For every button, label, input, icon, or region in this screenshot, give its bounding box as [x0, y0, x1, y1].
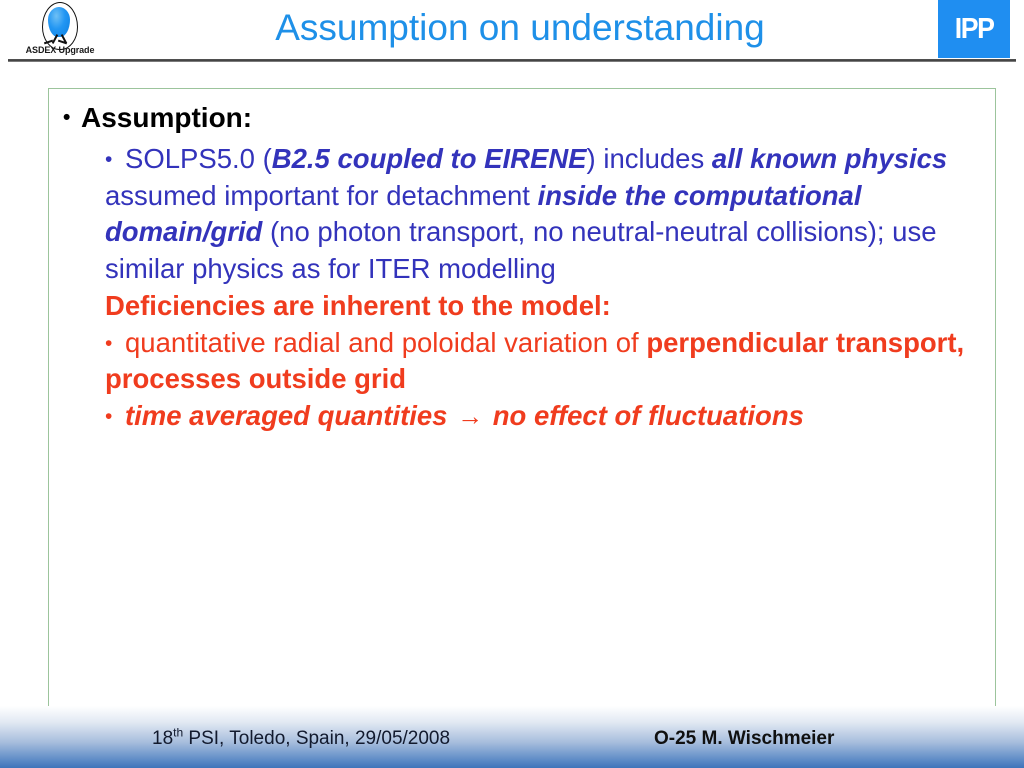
- red2-emphasis-2: no effect of fluctuations: [485, 400, 804, 431]
- paragraph-red-1: • quantitative radial and poloidal varia…: [105, 325, 995, 398]
- bullet-icon: •: [63, 106, 81, 131]
- footer-left-post: PSI, Toledo, Spain, 29/05/2008: [183, 728, 450, 749]
- content-box: •Assumption: • SOLPS5.0 (B2.5 coupled to…: [48, 88, 996, 718]
- paragraph-red-2: • time averaged quantities → no effect o…: [105, 398, 995, 435]
- blue-segment-1: SOLPS5.0 (: [117, 143, 271, 174]
- red1-segment-1: quantitative radial and poloidal variati…: [117, 327, 646, 358]
- assumption-heading: •Assumption:: [63, 101, 252, 134]
- red-heading-text: Deficiencies are inherent to the model:: [105, 290, 611, 321]
- bullet-icon: •: [105, 148, 112, 171]
- bullet-icon: •: [105, 332, 112, 355]
- body-text-block: • SOLPS5.0 (B2.5 coupled to EIRENE) incl…: [105, 141, 995, 435]
- ipp-logo: IPP: [938, 0, 1010, 58]
- ipp-logo-text: IPP: [955, 15, 994, 44]
- right-arrow-icon: →: [455, 401, 485, 431]
- footer-left-ordinal-suffix: th: [173, 726, 183, 740]
- red-heading: Deficiencies are inherent to the model:: [105, 288, 995, 325]
- blue-segment-3: assumed important for detachment: [105, 180, 538, 211]
- footer-left-pre: 18: [152, 728, 173, 749]
- footer-conference-info: 18th PSI, Toledo, Spain, 29/05/2008: [152, 728, 450, 750]
- slide-header: ASDEX Upgrade Assumption on understandin…: [0, 0, 1024, 63]
- blue-emphasis-2: all known physics: [712, 143, 947, 174]
- asdex-upgrade-logo: ASDEX Upgrade: [14, 1, 106, 59]
- slide-title: Assumption on understanding: [120, 2, 920, 54]
- footer-presenter-info: O-25 M. Wischmeier: [654, 728, 834, 750]
- red2-emphasis-1: time averaged quantities: [117, 400, 455, 431]
- asdex-logo-caption: ASDEX Upgrade: [14, 45, 106, 55]
- blue-segment-2: ) includes: [587, 143, 712, 174]
- bullet-icon: •: [105, 405, 112, 428]
- header-divider: [8, 59, 1016, 62]
- assumption-heading-text: Assumption:: [81, 102, 252, 133]
- blue-emphasis-1: B2.5 coupled to EIRENE: [272, 143, 587, 174]
- footer-band: 18th PSI, Toledo, Spain, 29/05/2008 O-25…: [0, 706, 1024, 768]
- paragraph-blue: • SOLPS5.0 (B2.5 coupled to EIRENE) incl…: [105, 141, 995, 288]
